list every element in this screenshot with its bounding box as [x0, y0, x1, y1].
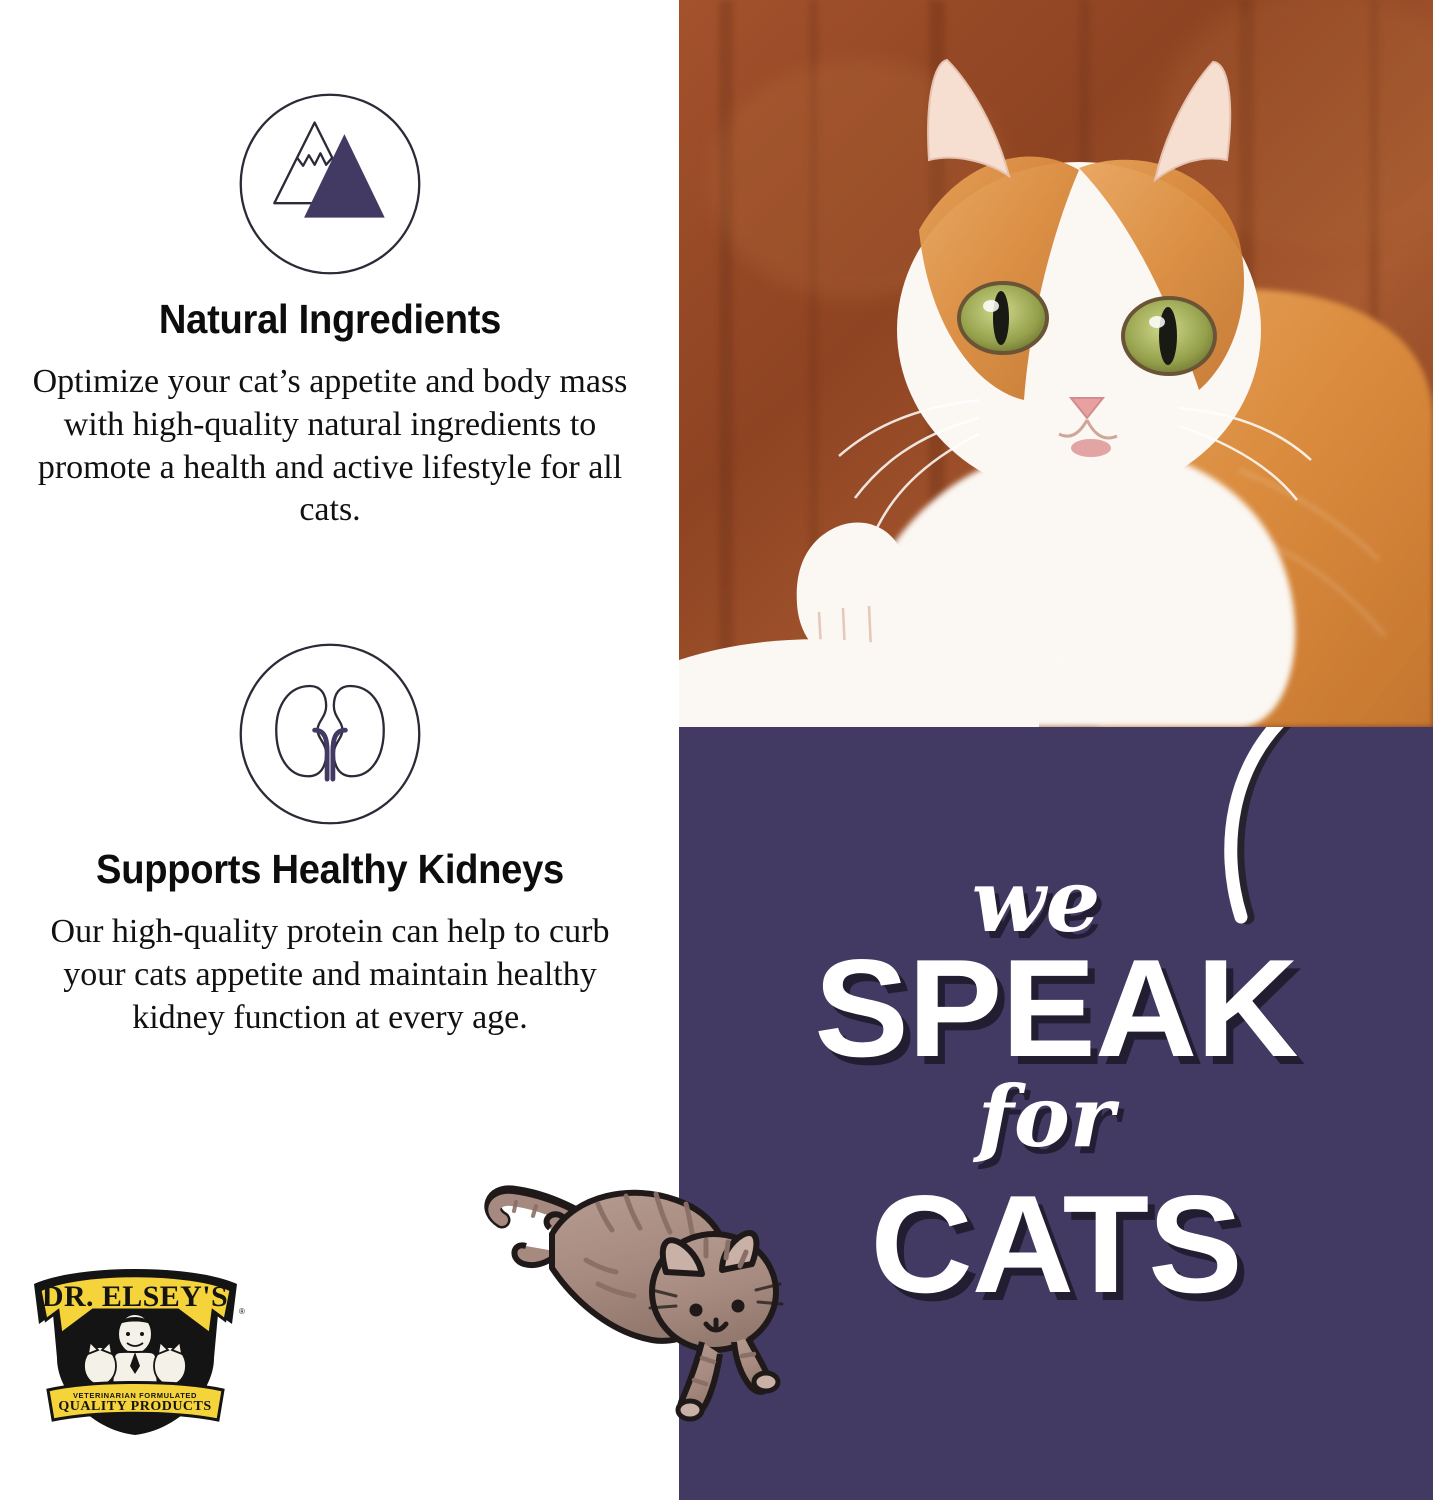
feature-description: Optimize your cat’s appetite and body ma… — [10, 361, 650, 532]
slogan-word-we: we — [972, 859, 1101, 945]
logo-mark: DR. ELSEY'S ® — [18, 1262, 253, 1437]
feature-description: Our high-quality protein can help to cur… — [10, 911, 650, 1039]
slogan-line-speak: SPEAK — [679, 939, 1433, 1078]
slogan-line-for: for — [679, 1075, 1423, 1159]
logo-registered-mark: ® — [239, 1307, 245, 1316]
feature-title: Natural Ingredients — [23, 296, 637, 343]
feature-block-natural-ingredients: Natural Ingredients Optimize your cat’s … — [0, 88, 660, 532]
curved-arrow-icon — [1219, 727, 1419, 927]
logo-banner-line-3: FOR CATS™ — [107, 1411, 162, 1421]
feature-title: Supports Healthy Kidneys — [23, 846, 637, 893]
dr-elseys-logo: DR. ELSEY'S ® — [18, 1262, 253, 1437]
cat-photograph — [679, 0, 1433, 727]
product-feature-graphic: Natural Ingredients Optimize your cat’s … — [0, 0, 1433, 1500]
slogan-word-speak: SPEAK — [814, 939, 1297, 1078]
logo-brand-text: DR. ELSEY'S — [42, 1280, 228, 1313]
leaping-cat-illustration — [480, 1160, 820, 1460]
feature-block-healthy-kidneys: Supports Healthy Kidneys Our high-qualit… — [0, 638, 660, 1039]
mountain-icon — [234, 88, 426, 280]
slogan-word-for: for — [978, 1075, 1114, 1159]
slogan-word-cats: CATS — [870, 1175, 1241, 1314]
kidney-icon — [234, 638, 426, 830]
